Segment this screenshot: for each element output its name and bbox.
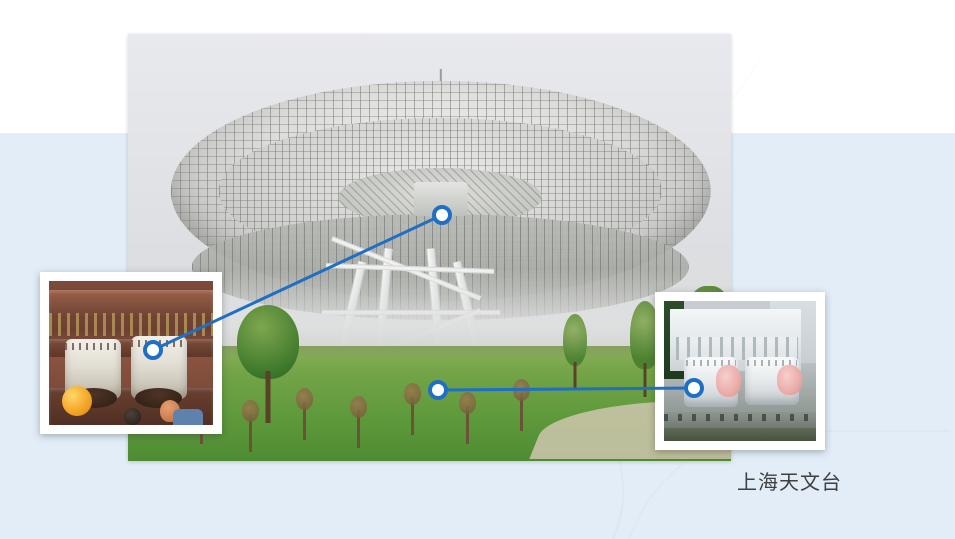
tree-crown bbox=[237, 305, 299, 379]
ground-strip bbox=[664, 428, 816, 441]
sapling bbox=[303, 402, 306, 440]
inset-left-image bbox=[49, 281, 213, 425]
bearing-assembly-worn-photo[interactable] bbox=[40, 272, 222, 434]
sapling bbox=[520, 393, 523, 431]
tree-crown bbox=[563, 314, 587, 366]
bearing-housing bbox=[684, 357, 739, 407]
slide-canvas: 上海天文台 bbox=[0, 0, 955, 539]
pink-end-cap bbox=[716, 365, 741, 397]
tree bbox=[562, 314, 588, 388]
tree-trunk bbox=[574, 362, 577, 388]
inset-right-image bbox=[664, 301, 816, 441]
worker-head bbox=[124, 408, 141, 425]
tree-trunk bbox=[265, 371, 270, 423]
bearing-assembly-new-photo[interactable] bbox=[655, 292, 825, 450]
sapling bbox=[466, 406, 469, 444]
sapling bbox=[411, 397, 414, 435]
bearing-bolt-ring bbox=[65, 343, 121, 350]
sapling bbox=[357, 410, 360, 448]
pink-end-cap bbox=[777, 365, 802, 395]
base-rail bbox=[664, 412, 816, 430]
bolt-row bbox=[49, 313, 213, 336]
bearing-housing bbox=[131, 336, 187, 399]
bearing-bolt-ring bbox=[131, 340, 187, 347]
bearing-housing bbox=[745, 357, 800, 405]
page-title: 上海天文台 bbox=[737, 471, 842, 495]
feed-cabin bbox=[413, 182, 467, 216]
tree-trunk bbox=[644, 363, 647, 397]
sapling bbox=[249, 414, 252, 452]
worker-torso bbox=[173, 409, 203, 425]
